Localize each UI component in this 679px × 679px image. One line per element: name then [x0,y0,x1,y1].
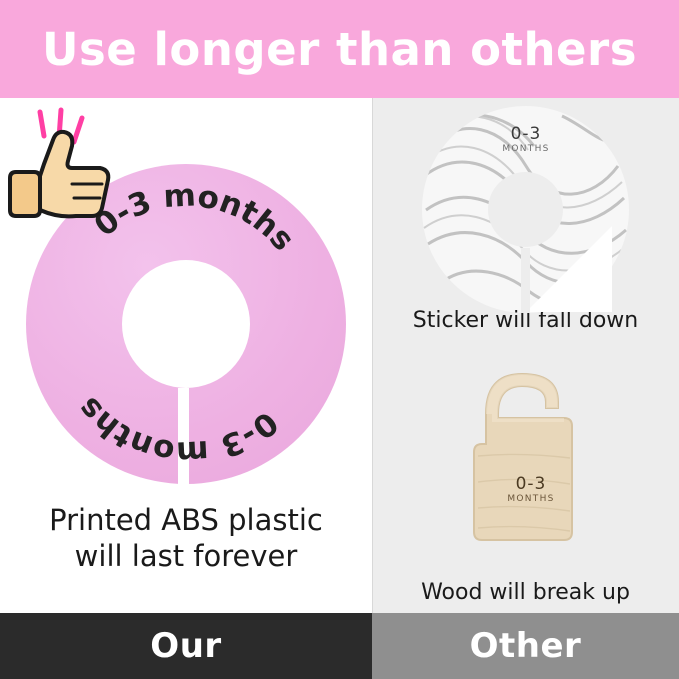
our-product-panel: 0-3 months 0-3 months Prin [0,98,372,613]
sticker-divider-ring: 0-3 MONTHS [422,106,629,313]
footer-our-label: Our [150,626,221,666]
our-caption-line-1: Printed ABS plastic [0,502,372,538]
sticker-center-hole [488,172,563,247]
thumbs-up-icon [4,106,114,226]
wood-size-label: 0-3 MONTHS [486,476,576,504]
comparison-infographic: Use longer than others 0-3 months 0-3 mo… [0,0,679,679]
our-caption-line-2: will last forever [0,538,372,574]
sticker-slit [521,248,530,313]
ring-label-top: 0-3 months [88,177,302,258]
header-banner: Use longer than others [0,0,679,98]
page-title: Use longer than others [42,27,637,72]
wood-door-hanger: 0-3 MONTHS [452,356,612,556]
footer-other-label: Other [470,626,582,666]
wood-size-range: 0-3 [486,476,576,494]
footer-our: Our [0,613,372,679]
wood-size-unit: MONTHS [486,494,576,504]
our-caption: Printed ABS plastic will last forever [0,502,372,575]
ring-label-bottom: 0-3 months [71,390,285,471]
sticker-size-label: 0-3 MONTHS [484,126,568,154]
wood-caption: Wood will break up [372,580,679,605]
panel-divider [372,98,373,613]
footer-other: Other [372,613,679,679]
sticker-size-range: 0-3 [484,126,568,144]
sticker-size-unit: MONTHS [484,144,568,154]
